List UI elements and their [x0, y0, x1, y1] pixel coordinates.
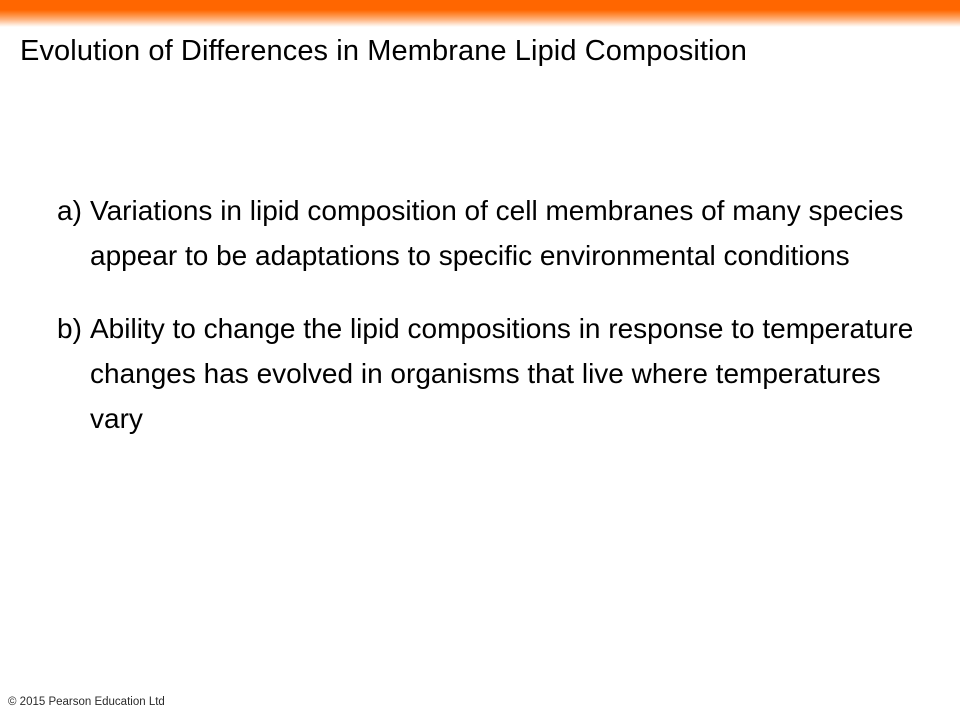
copyright-footer: © 2015 Pearson Education Ltd — [8, 695, 165, 709]
slide-title: Evolution of Differences in Membrane Lip… — [20, 33, 820, 69]
list-item-marker: a) — [57, 188, 90, 233]
slide-body-list: a) Variations in lipid composition of ce… — [57, 188, 937, 441]
orange-gradient-band — [0, 0, 960, 27]
list-item: b) Ability to change the lipid compositi… — [57, 306, 937, 441]
slide-canvas: Evolution of Differences in Membrane Lip… — [0, 0, 960, 720]
list-item-text: Variations in lipid composition of cell … — [90, 188, 920, 278]
band-solid-fill — [0, 0, 960, 10]
band-gradient-fade — [0, 10, 960, 27]
list-item: a) Variations in lipid composition of ce… — [57, 188, 937, 278]
list-item-marker: b) — [57, 306, 90, 351]
list-item-text: Ability to change the lipid compositions… — [90, 306, 920, 441]
